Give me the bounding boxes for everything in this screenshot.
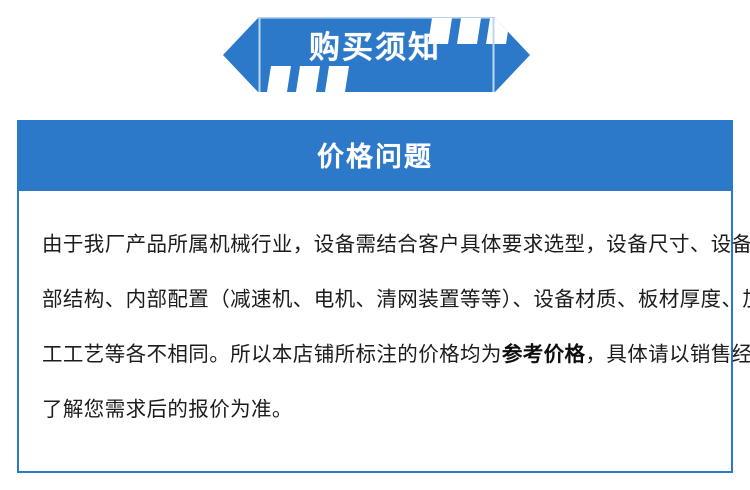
- banner-stripes-bottom-left: [267, 66, 349, 92]
- body-line-1: 由于我厂产品所属机械行业，设备需结合客户具体要求选型，设备尺寸、设备内: [42, 217, 708, 272]
- body-line-4: 了解您需求后的报价为准。: [42, 382, 708, 437]
- card-header-title: 价格问题: [317, 140, 433, 174]
- body-text-segment: 部结构、内部配置（减速机、电机、清网装置等等）、设备材质、板材厚度、加: [42, 288, 750, 311]
- body-text-segment: 工工艺等各不相同。所以本店铺所标注的价格均为: [42, 343, 502, 366]
- body-text-segment: 由于我厂产品所属机械行业，设备需结合客户具体要求选型，设备尺寸、设备内: [42, 233, 750, 256]
- body-text-segment: 了解您需求后的报价为准。: [42, 398, 293, 421]
- body-line-3: 工工艺等各不相同。所以本店铺所标注的价格均为参考价格，具体请以销售经理: [42, 327, 708, 382]
- price-notice-card: 价格问题 由于我厂产品所属机械行业，设备需结合客户具体要求选型，设备尺寸、设备内…: [17, 120, 733, 473]
- body-text-segment: ，具体请以销售经理: [585, 343, 750, 366]
- body-text-emphasis: 参考价格: [502, 343, 586, 366]
- card-header: 价格问题: [19, 122, 731, 191]
- body-line-2: 部结构、内部配置（减速机、电机、清网装置等等）、设备材质、板材厚度、加: [42, 272, 708, 327]
- banner-title: 购买须知: [0, 28, 750, 68]
- card-body: 由于我厂产品所属机械行业，设备需结合客户具体要求选型，设备尺寸、设备内 部结构、…: [19, 191, 731, 437]
- purchase-notice-banner: 购买须知: [0, 0, 750, 108]
